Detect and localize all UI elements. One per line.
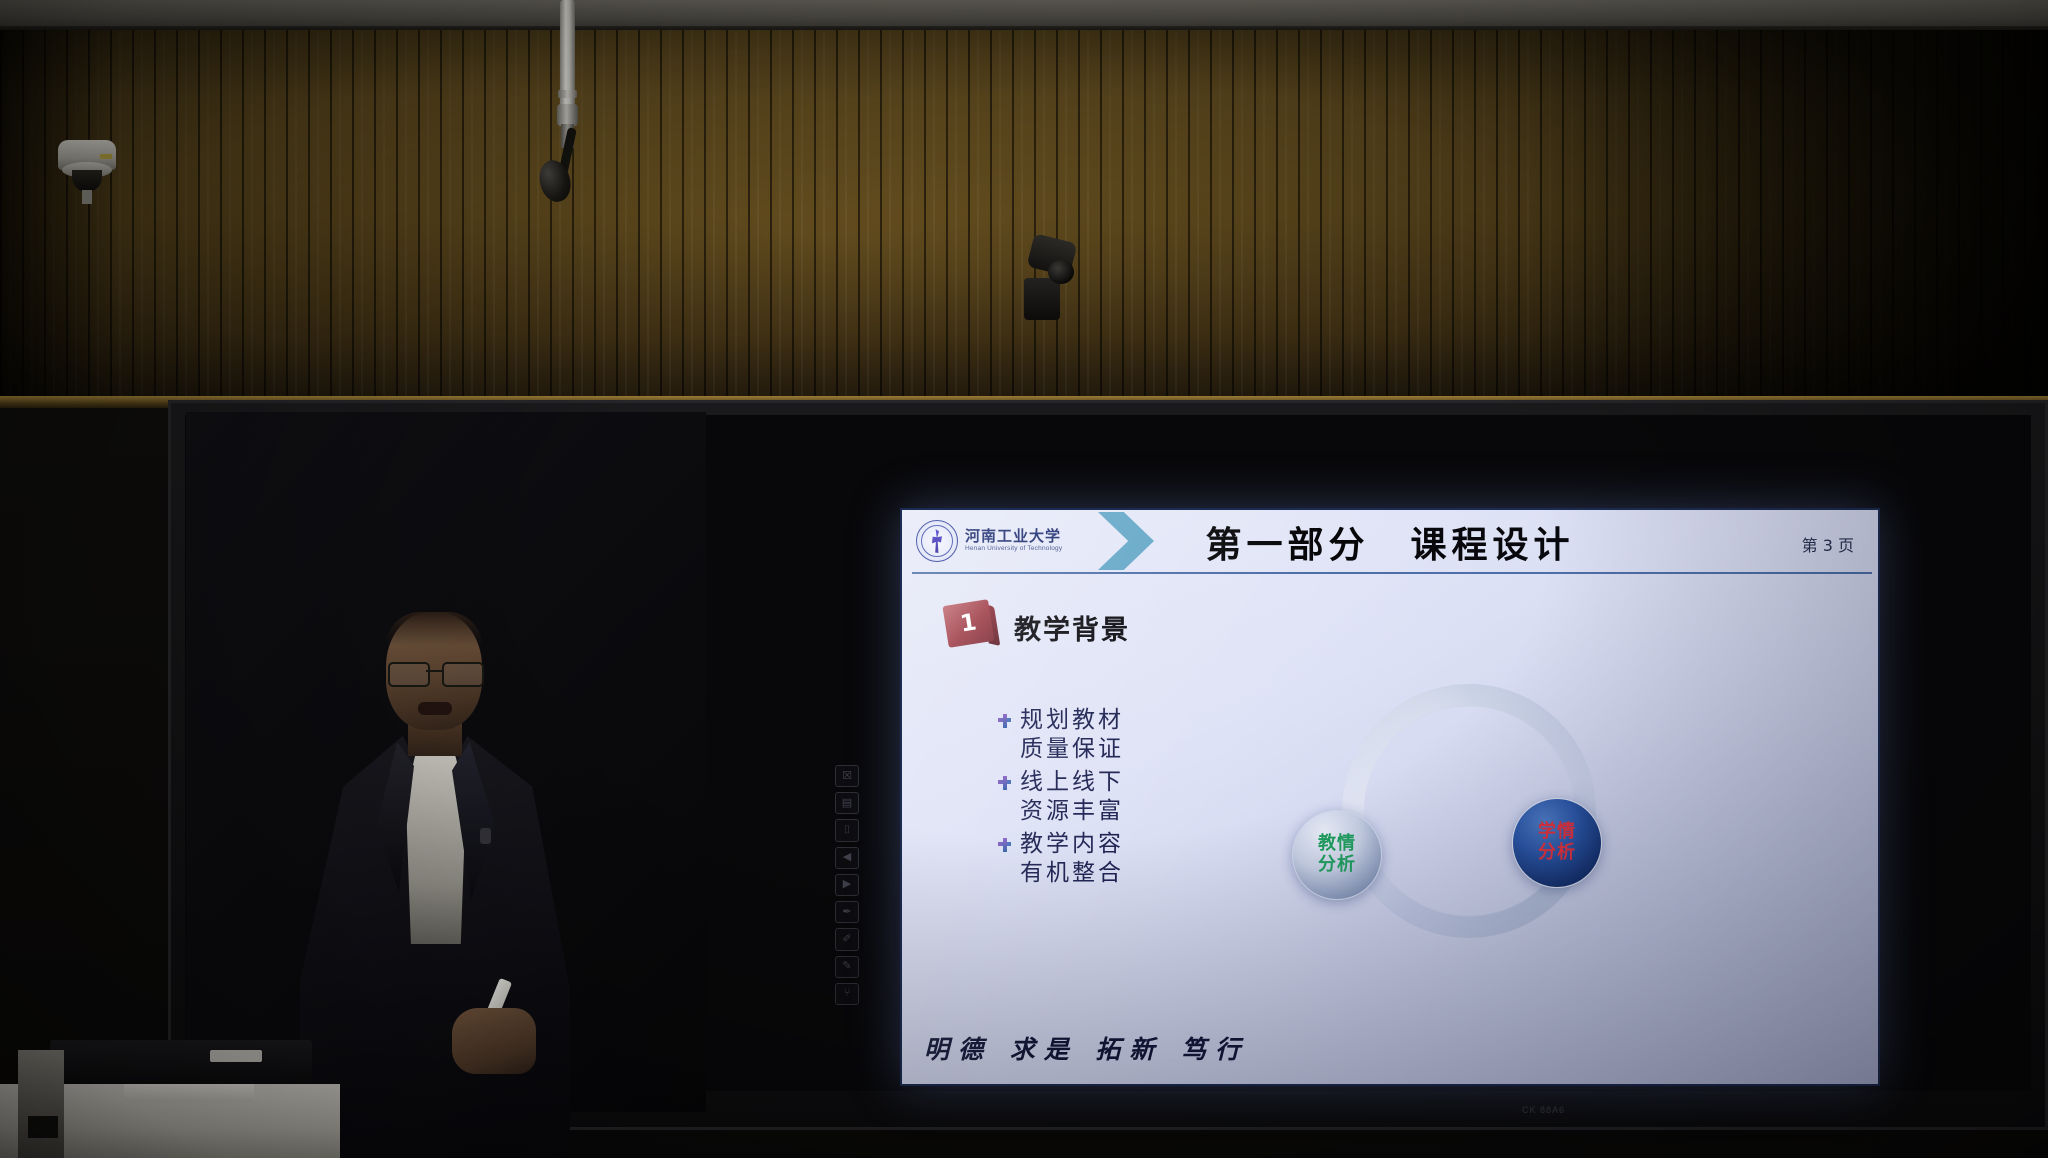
list-item: 线上线下 资源丰富 bbox=[998, 768, 1208, 827]
node-a-line-2: 分析 bbox=[1318, 855, 1356, 876]
previous-icon[interactable]: ◀ bbox=[835, 847, 859, 869]
bullet-line-1: 规划教材 bbox=[1020, 706, 1124, 735]
bullet-line-1: 线上线下 bbox=[1020, 768, 1124, 797]
pencil-icon[interactable]: ✎ bbox=[835, 956, 859, 978]
lecture-hall-scene: CK 88A6 ☒ ▤ ⌷ ◀ ▶ ✒ ✐ ✎ ⑂ 河南工业大学 Henan U… bbox=[0, 0, 2048, 1158]
section-number-cube: 1 bbox=[942, 598, 1001, 656]
node-b-line-2: 分析 bbox=[1538, 843, 1576, 864]
bullet-arrow-icon bbox=[998, 714, 1011, 731]
bullet-line-2: 有机整合 bbox=[1020, 859, 1124, 888]
node-student-analysis: 学情 分析 bbox=[1512, 798, 1602, 888]
section-number: 1 bbox=[942, 599, 994, 648]
qr-code-icon[interactable]: ⌷ bbox=[835, 819, 859, 841]
bullet-line-2: 质量保证 bbox=[1020, 735, 1124, 764]
wall-vignette bbox=[0, 30, 2048, 402]
node-b-line-1: 学情 bbox=[1538, 822, 1576, 843]
next-icon[interactable]: ▶ bbox=[835, 874, 859, 896]
presenter bbox=[300, 612, 570, 1158]
lectern-slot bbox=[28, 1116, 58, 1138]
presentation-slide[interactable]: 河南工业大学 Henan University of Technology 第一… bbox=[900, 508, 1880, 1086]
dome-camera-lens bbox=[72, 170, 102, 192]
slide-header: 河南工业大学 Henan University of Technology 第一… bbox=[902, 510, 1878, 572]
presenter-hand bbox=[452, 1008, 536, 1074]
slide-page-number: 第 3 页 bbox=[1802, 532, 1854, 556]
trash-icon[interactable]: ☒ bbox=[835, 765, 859, 787]
dome-camera-label bbox=[100, 154, 112, 159]
pen-thick-icon[interactable]: ✒ bbox=[835, 901, 859, 923]
presenter-glasses-icon bbox=[388, 662, 484, 684]
lectern-side-cabinet bbox=[18, 1050, 64, 1158]
dome-camera-mount bbox=[82, 190, 92, 204]
lectern-lip bbox=[124, 1084, 254, 1102]
microphone-joint bbox=[557, 104, 578, 126]
slide-header-rule bbox=[912, 572, 1872, 574]
save-icon[interactable]: ▤ bbox=[835, 792, 859, 814]
list-item: 规划教材 质量保证 bbox=[998, 706, 1208, 765]
glasses-lens-left bbox=[388, 662, 430, 687]
hanging-microphone-icon bbox=[548, 0, 588, 210]
pen-thin-icon[interactable]: ✐ bbox=[835, 928, 859, 950]
smartboard-brand-label: CK 88A6 bbox=[1522, 1105, 1565, 1115]
presenter-mouth bbox=[418, 702, 452, 715]
share-icon[interactable]: ⑂ bbox=[835, 983, 859, 1005]
slide-motto: 明德 求是 拓新 笃行 bbox=[924, 1030, 1249, 1066]
lapel-microphone-icon bbox=[480, 828, 491, 844]
bullet-line-1: 教学内容 bbox=[1020, 830, 1124, 859]
lectern-monitor-badge bbox=[210, 1050, 262, 1062]
slide-bullet-list: 规划教材 质量保证 线上线下 资源丰富 教学内容 有机整合 bbox=[998, 706, 1208, 892]
slide-diagram: 教情 分析 学情 分析 bbox=[1280, 658, 1656, 988]
glasses-lens-right bbox=[442, 662, 484, 687]
slide-section-heading: 1 教学背景 bbox=[946, 602, 1130, 652]
wall-camera-lens bbox=[1048, 260, 1074, 284]
smartboard-tool-strip[interactable]: ☒ ▤ ⌷ ◀ ▶ ✒ ✐ ✎ ⑂ bbox=[832, 765, 862, 1005]
presenter-hair bbox=[386, 612, 482, 646]
microphone-band bbox=[558, 90, 577, 98]
node-teaching-analysis: 教情 分析 bbox=[1292, 810, 1382, 900]
bullet-line-2: 资源丰富 bbox=[1020, 797, 1124, 826]
wall-camera-icon bbox=[1018, 238, 1074, 320]
bullet-arrow-icon bbox=[998, 838, 1011, 855]
wall-camera-mount bbox=[1024, 278, 1060, 320]
list-item: 教学内容 有机整合 bbox=[998, 830, 1208, 889]
dome-security-camera-icon bbox=[58, 140, 116, 192]
lectern-monitor bbox=[50, 1040, 312, 1086]
bullet-arrow-icon bbox=[998, 776, 1011, 793]
slide-title: 第一部分 课程设计 bbox=[902, 516, 1878, 568]
node-a-line-1: 教情 bbox=[1318, 834, 1356, 855]
section-title: 教学背景 bbox=[1014, 608, 1130, 647]
